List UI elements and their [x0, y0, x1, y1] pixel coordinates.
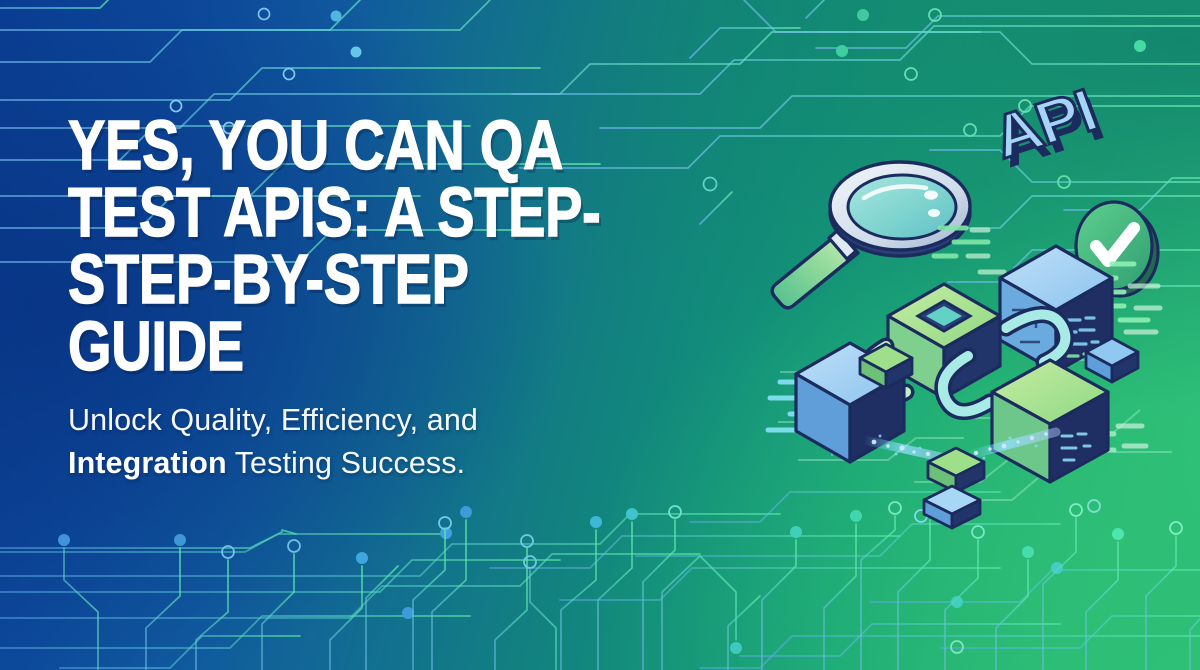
response-cube — [992, 360, 1108, 482]
api-testing-illustration: API API — [768, 160, 1188, 510]
subtitle: Unlock Quality, Efficiency, and Integrat… — [68, 399, 708, 485]
subtitle-emphasis: Integration — [68, 446, 227, 480]
subtitle-lead: Unlock Quality, Efficiency, and — [68, 403, 478, 437]
text-content: YES, YOU CAN QA TEST APIs: A STEP- STEP-… — [68, 112, 768, 379]
api-testing-banner: YES, YOU CAN QA TEST APIs: A STEP- STEP-… — [0, 0, 1200, 670]
subtitle-tail: Testing Success. — [227, 446, 465, 480]
page-title: YES, YOU CAN QA TEST APIs: A STEP- STEP-… — [68, 112, 628, 379]
